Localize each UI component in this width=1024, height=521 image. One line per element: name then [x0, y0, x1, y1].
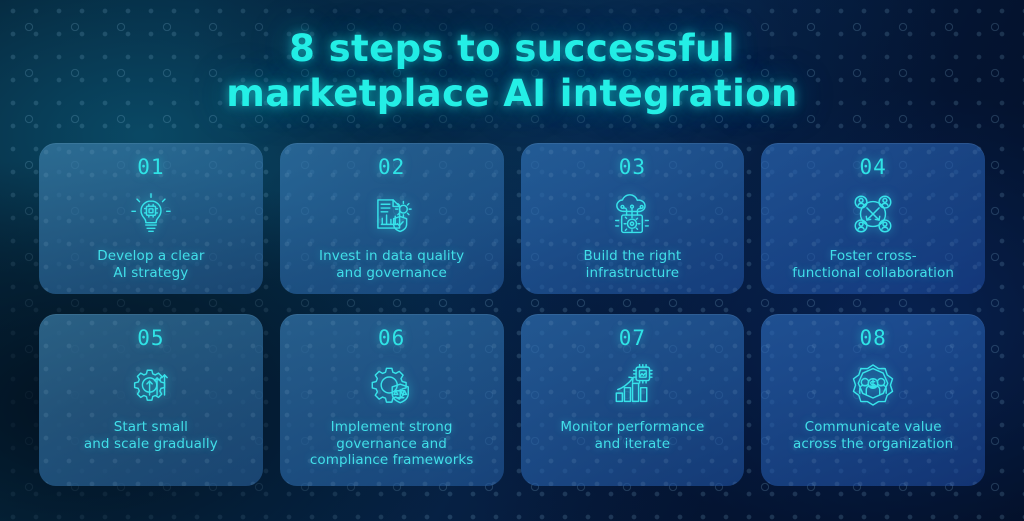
steps-grid: 01 Develop a clear AI strategy 02 — [39, 143, 985, 486]
document-chart-shield-icon — [366, 188, 418, 240]
step-number: 08 — [859, 326, 886, 350]
badge-people-value-icon — [847, 359, 899, 411]
team-network-icon — [847, 188, 899, 240]
step-label: Foster cross- functional collaboration — [784, 248, 962, 281]
step-number: 02 — [378, 155, 405, 179]
step-number: 01 — [137, 155, 164, 179]
lightbulb-chip-icon — [125, 188, 177, 240]
step-label: Communicate value across the organizatio… — [785, 419, 961, 452]
step-card-08: 08 Communicate value across the organiza… — [761, 314, 985, 486]
step-card-05: 05 Start small and scale gradually — [39, 314, 263, 486]
step-number: 04 — [859, 155, 886, 179]
step-card-02: 02 Invest in data quality and governance — [280, 143, 504, 294]
step-label: Build the right infrastructure — [575, 248, 689, 281]
step-number: 07 — [619, 326, 646, 350]
gear-shield-scales-icon — [366, 359, 418, 411]
step-card-03: 03 Build the right infrastructure — [521, 143, 745, 294]
step-card-06: 06 Implement strong governance and compl… — [280, 314, 504, 486]
step-number: 05 — [137, 326, 164, 350]
page-title: 8 steps to successful marketplace AI int… — [0, 26, 1024, 116]
step-label: Develop a clear AI strategy — [89, 248, 212, 281]
gear-growth-arrows-icon — [125, 359, 177, 411]
infographic-canvas: 8 steps to successful marketplace AI int… — [0, 0, 1024, 521]
cloud-server-gear-icon — [606, 188, 658, 240]
bar-chart-chip-icon — [606, 359, 658, 411]
step-label: Monitor performance and iterate — [552, 419, 712, 452]
step-number: 06 — [378, 326, 405, 350]
step-number: 03 — [619, 155, 646, 179]
step-card-07: 07 Monitor performance and iterate — [521, 314, 745, 486]
step-label: Implement strong governance and complian… — [302, 419, 482, 469]
step-card-01: 01 Develop a clear AI strategy — [39, 143, 263, 294]
step-label: Invest in data quality and governance — [311, 248, 472, 281]
step-card-04: 04 — [761, 143, 985, 294]
step-label: Start small and scale gradually — [76, 419, 226, 452]
